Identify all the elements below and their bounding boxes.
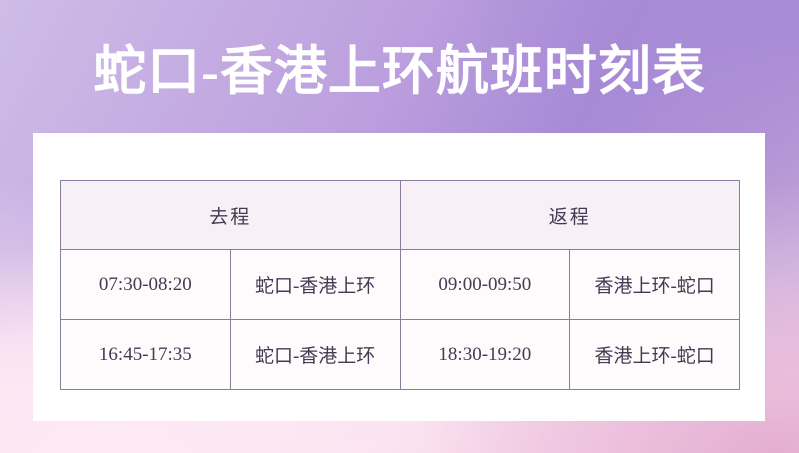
table-header: 去程 返程: [61, 181, 740, 250]
cell-return-time: 18:30-19:20: [400, 320, 570, 390]
cell-outbound-time: 07:30-08:20: [61, 250, 231, 320]
page-title: 蛇口-香港上环航班时刻表: [0, 40, 799, 104]
cell-outbound-route: 蛇口-香港上环: [230, 250, 400, 320]
cell-return-time: 09:00-09:50: [400, 250, 570, 320]
cell-outbound-time: 16:45-17:35: [61, 320, 231, 390]
cell-return-route: 香港上环-蛇口: [570, 250, 740, 320]
table-row: 07:30-08:20 蛇口-香港上环 09:00-09:50 香港上环-蛇口: [61, 250, 740, 320]
cell-outbound-route: 蛇口-香港上环: [230, 320, 400, 390]
flight-schedule-table: 去程 返程 07:30-08:20 蛇口-香港上环 09:00-09:50 香港…: [60, 180, 740, 390]
table-header-row: 去程 返程: [61, 181, 740, 250]
column-group-header-outbound: 去程: [61, 181, 401, 250]
column-group-header-return: 返程: [400, 181, 740, 250]
cell-return-route: 香港上环-蛇口: [570, 320, 740, 390]
poster-canvas: 蛇口-香港上环航班时刻表 去程 返程 07:30-08:20 蛇口-香港上环 0…: [0, 0, 799, 453]
schedule-card: 去程 返程 07:30-08:20 蛇口-香港上环 09:00-09:50 香港…: [33, 133, 765, 421]
table-row: 16:45-17:35 蛇口-香港上环 18:30-19:20 香港上环-蛇口: [61, 320, 740, 390]
table-body: 07:30-08:20 蛇口-香港上环 09:00-09:50 香港上环-蛇口 …: [61, 250, 740, 390]
